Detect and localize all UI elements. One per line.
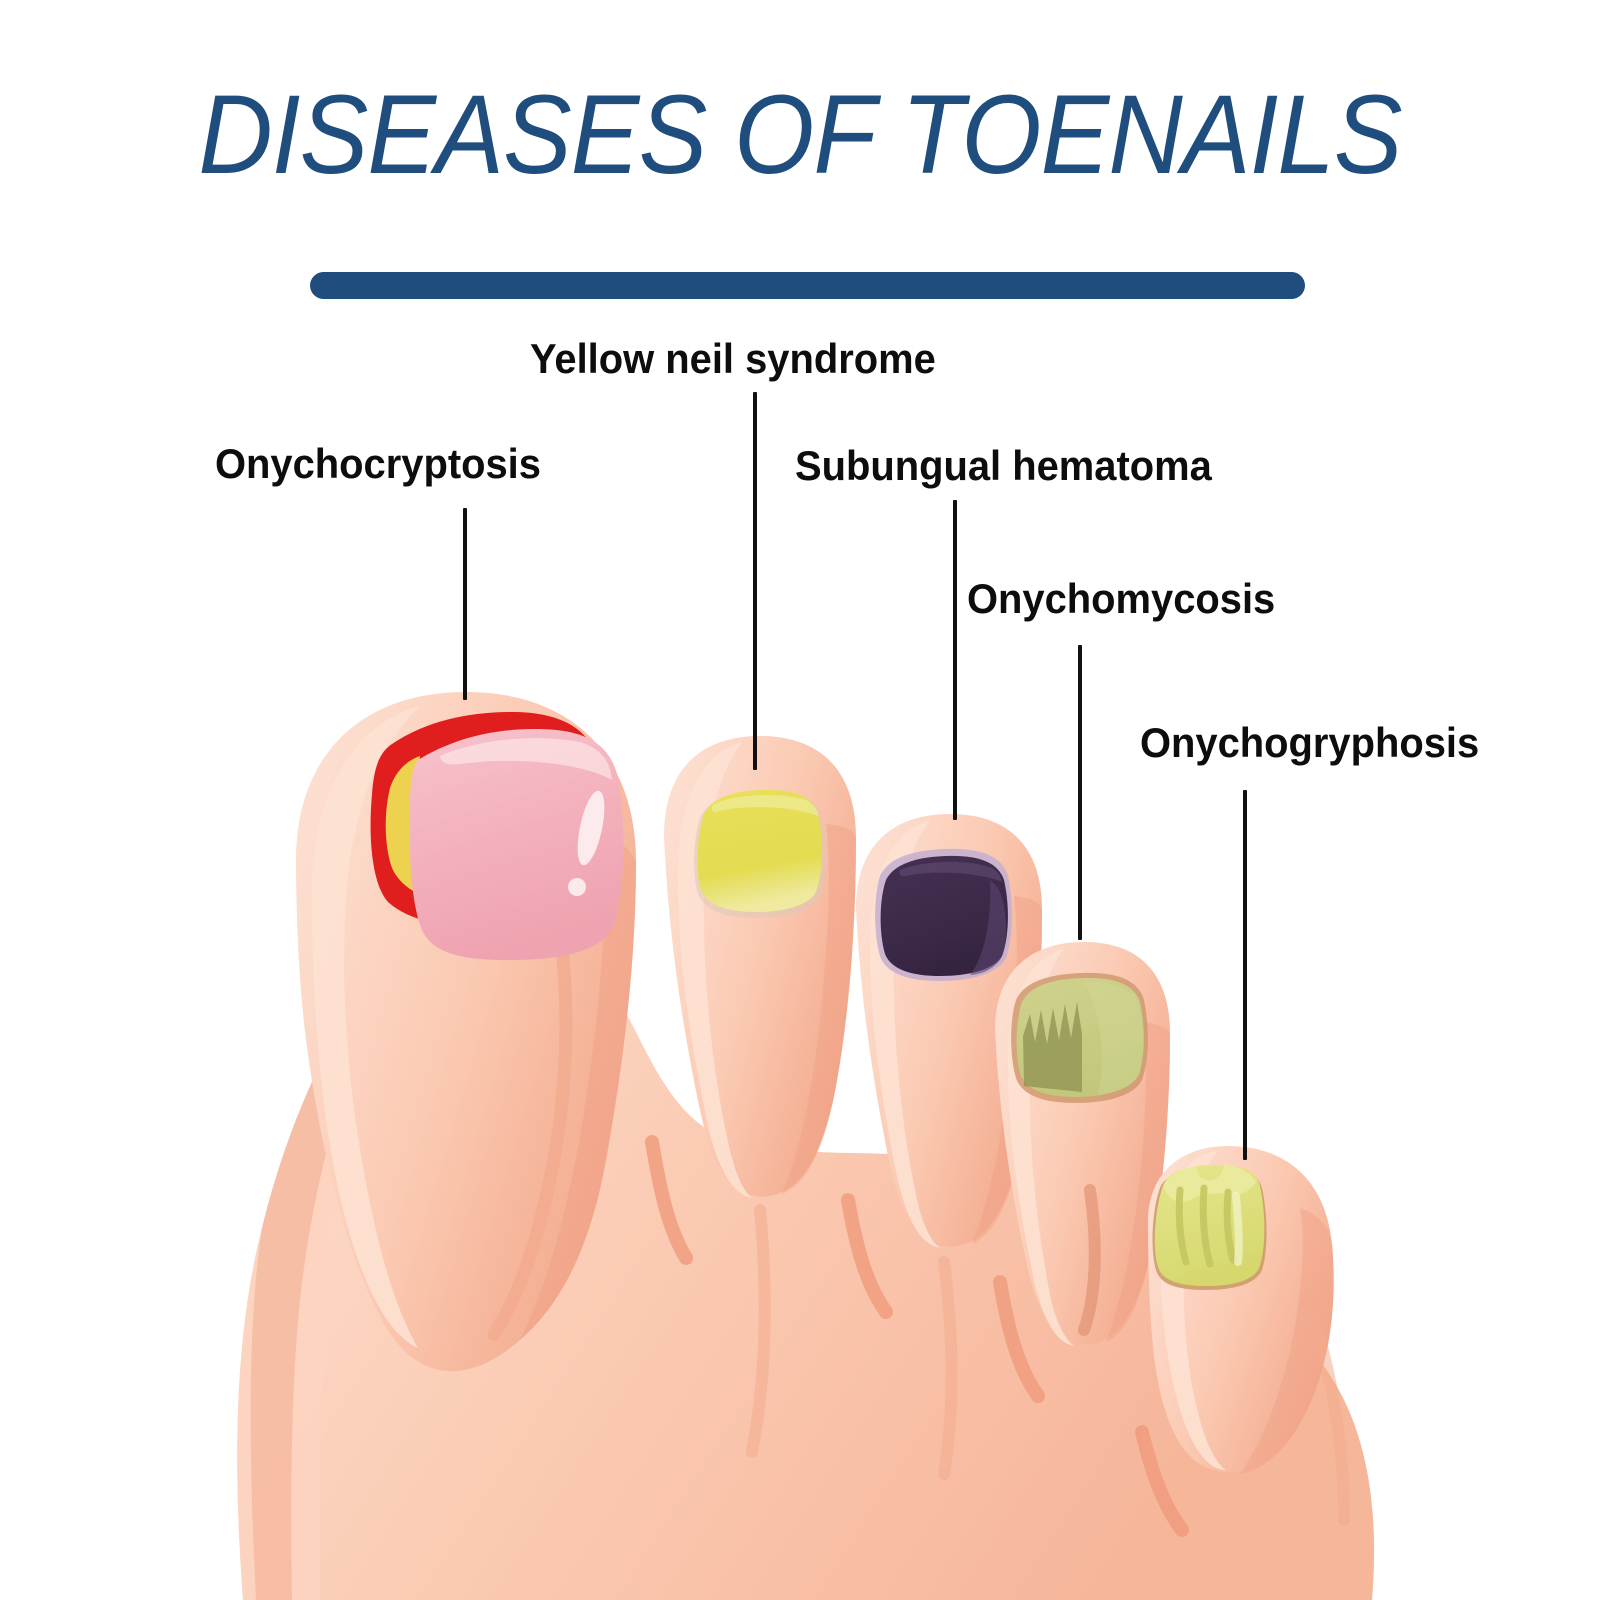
nail-yellow-nail-syndrome [694, 790, 826, 918]
leader-line-onychomycosis [1078, 645, 1082, 940]
nail-onychogryphosis [1153, 1164, 1267, 1290]
leader-line-onychocryptosis [463, 508, 467, 700]
label-onychogryphosis: Onychogryphosis [1140, 722, 1479, 764]
title-divider-bar [310, 272, 1305, 299]
nail-subungual-hematoma [875, 849, 1012, 981]
leader-line-yellow-nail-syndrome [753, 392, 757, 770]
infographic-canvas: Onychocryptosis Yellow neil syndrome Sub… [0, 0, 1600, 1600]
label-onychocryptosis: Onychocryptosis [215, 443, 541, 485]
nail-onychomycosis [1011, 973, 1148, 1103]
label-subungual-hematoma: Subungual hematoma [795, 445, 1212, 487]
label-onychomycosis: Onychomycosis [967, 578, 1275, 620]
page-title: DISEASES OF TOENAILS [64, 76, 1536, 194]
leader-line-subungual-hematoma [953, 500, 957, 820]
foot-illustration [0, 0, 1600, 1600]
label-yellow-nail-syndrome: Yellow neil syndrome [530, 338, 936, 380]
leader-line-onychogryphosis [1243, 790, 1247, 1160]
